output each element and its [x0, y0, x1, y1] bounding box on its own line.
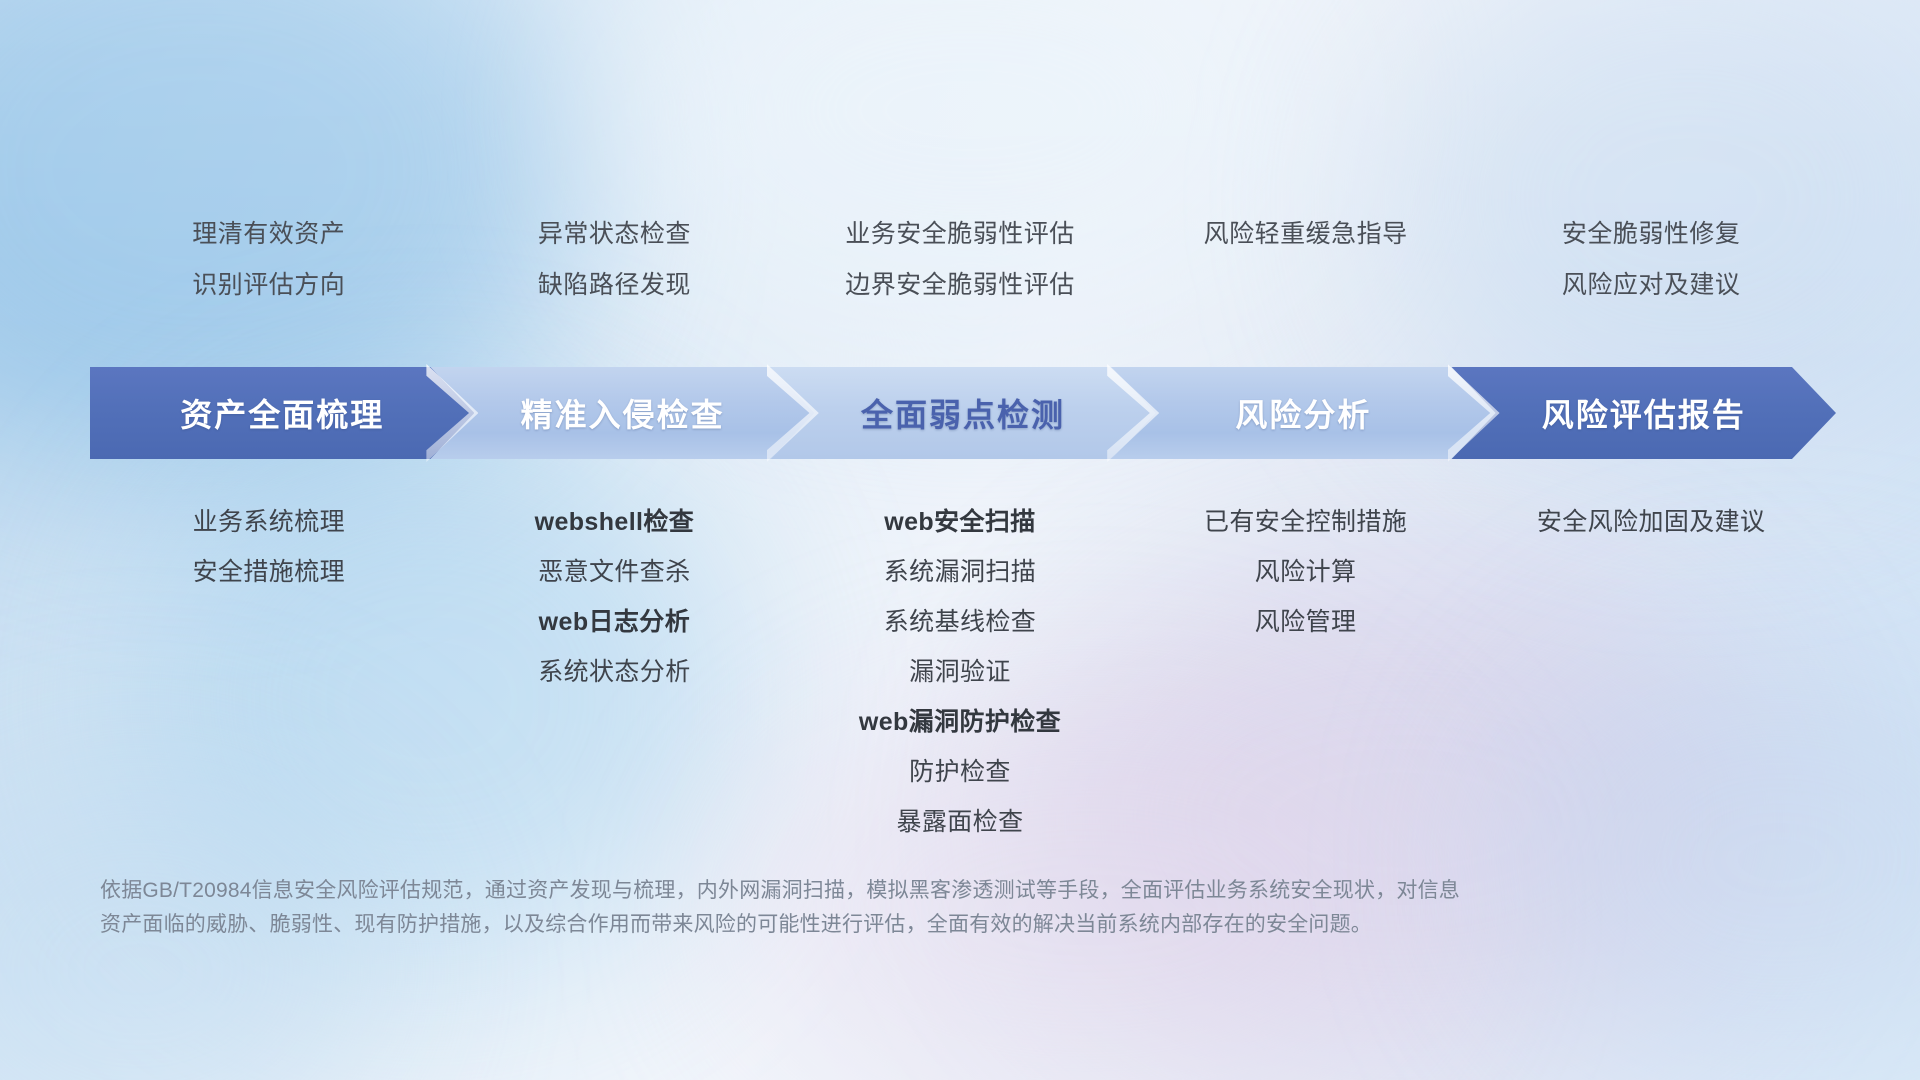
bottom-item: 恶意文件查杀: [538, 560, 690, 585]
chevron-step-4[interactable]: 风险分析: [1111, 367, 1495, 459]
bottom-item: web日志分析: [539, 610, 690, 635]
bottom-item: 系统状态分析: [538, 660, 690, 685]
top-item: 风险轻重缓急指导: [1204, 222, 1408, 247]
top-items-row: 理清有效资产识别评估方向异常状态检查缺陷路径发现业务安全脆弱性评估边界安全脆弱性…: [96, 222, 1824, 324]
top-item: 缺陷路径发现: [538, 273, 691, 298]
top-column-3: 业务安全脆弱性评估边界安全脆弱性评估: [787, 222, 1133, 324]
bottom-item: 风险管理: [1255, 610, 1357, 635]
bottom-item: 安全措施梳理: [193, 560, 345, 585]
chevron-step-label: 资产全面梳理: [180, 390, 384, 436]
chevron-step-1[interactable]: 资产全面梳理: [90, 367, 474, 459]
chevron-step-label: 精准入侵检查: [521, 390, 725, 436]
chevron-step-2[interactable]: 精准入侵检查: [430, 367, 814, 459]
bottom-column-3: web安全扫描系统漏洞扫描系统基线检查漏洞验证web漏洞防护检查防护检查暴露面检…: [787, 510, 1133, 860]
top-item: 风险应对及建议: [1562, 273, 1741, 298]
top-column-1: 理清有效资产识别评估方向: [96, 222, 442, 324]
top-item: 理清有效资产: [192, 222, 345, 247]
bottom-column-4: 已有安全控制措施风险计算风险管理: [1133, 510, 1479, 660]
footer-line-1: 依据GB/T20984信息安全风险评估规范，通过资产发现与梳理，内外网漏洞扫描，…: [100, 874, 1660, 908]
bottom-item: 防护检查: [909, 760, 1011, 785]
bottom-item: 漏洞验证: [909, 660, 1011, 685]
bottom-column-2: webshell检查恶意文件查杀web日志分析系统状态分析: [442, 510, 788, 710]
bottom-item: 安全风险加固及建议: [1537, 510, 1766, 535]
top-column-4: 风险轻重缓急指导: [1133, 222, 1479, 324]
top-item: 业务安全脆弱性评估: [845, 222, 1075, 247]
top-item: 安全脆弱性修复: [1562, 222, 1741, 247]
chevron-step-label: 风险分析: [1235, 390, 1371, 436]
chevron-step-label: 全面弱点检测: [861, 390, 1065, 436]
chevron-step-label: 风险评估报告: [1542, 390, 1746, 436]
bottom-item: 业务系统梳理: [193, 510, 345, 535]
bottom-item: web安全扫描: [884, 510, 1035, 535]
bottom-item: 风险计算: [1255, 560, 1357, 585]
chevron-step-5[interactable]: 风险评估报告: [1452, 367, 1836, 459]
footer-description: 依据GB/T20984信息安全风险评估规范，通过资产发现与梳理，内外网漏洞扫描，…: [100, 874, 1660, 942]
top-column-5: 安全脆弱性修复风险应对及建议: [1478, 222, 1824, 324]
top-item: 异常状态检查: [538, 222, 691, 247]
bottom-item: 暴露面检查: [896, 810, 1023, 835]
bottom-column-1: 业务系统梳理安全措施梳理: [96, 510, 442, 610]
slide-canvas: 理清有效资产识别评估方向异常状态检查缺陷路径发现业务安全脆弱性评估边界安全脆弱性…: [0, 0, 1920, 1080]
top-item: 边界安全脆弱性评估: [845, 273, 1075, 298]
process-chevron-band: 资产全面梳理精准入侵检查全面弱点检测风险分析风险评估报告: [90, 367, 1836, 459]
bottom-items-row: 业务系统梳理安全措施梳理webshell检查恶意文件查杀web日志分析系统状态分…: [96, 510, 1824, 860]
footer-line-2: 资产面临的威胁、脆弱性、现有防护措施，以及综合作用而带来风险的可能性进行评估，全…: [100, 908, 1660, 942]
bottom-item: 系统基线检查: [884, 610, 1036, 635]
bottom-item: webshell检查: [535, 510, 695, 535]
bottom-item: 系统漏洞扫描: [884, 560, 1036, 585]
bottom-item: web漏洞防护检查: [859, 710, 1061, 735]
chevron-step-3[interactable]: 全面弱点检测: [771, 367, 1155, 459]
bottom-item: 已有安全控制措施: [1204, 510, 1407, 535]
top-item: 识别评估方向: [192, 273, 345, 298]
bottom-column-5: 安全风险加固及建议: [1478, 510, 1824, 560]
top-column-2: 异常状态检查缺陷路径发现: [442, 222, 788, 324]
